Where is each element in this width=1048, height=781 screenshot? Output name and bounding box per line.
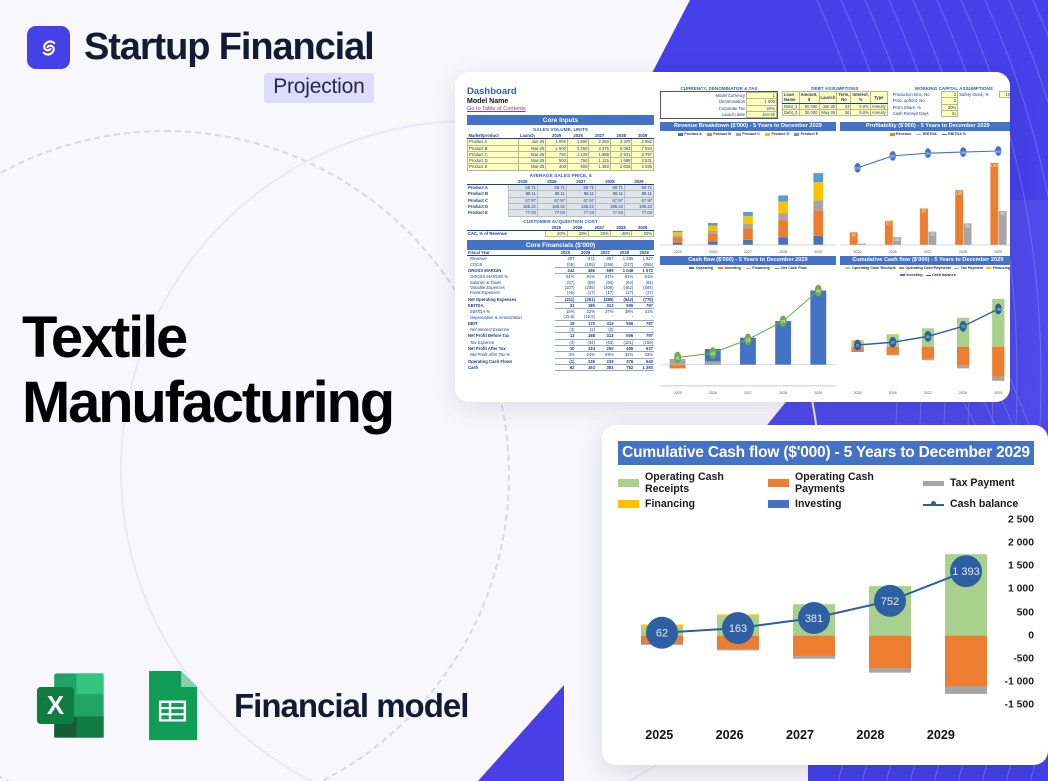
dashboard-title: Dashboard xyxy=(467,86,654,97)
cumulative-chart-title: Cumulative Cash flow ($'000) - 5 Years t… xyxy=(618,441,1034,465)
svg-text:857: 857 xyxy=(922,209,927,214)
table-row: Launch date Jan-25 xyxy=(661,111,777,117)
table-row: Product E 77.03 77.03 77.03 77.03 77.03 xyxy=(467,210,654,216)
chart-title: Cash flow ($'000) - 5 Years to December … xyxy=(660,256,836,265)
average-price-table: 2025 2026 2027 2028 2029 Product A 58.71… xyxy=(467,179,654,217)
svg-text:797: 797 xyxy=(1000,211,1005,216)
brand-subtitle-badge: Projection xyxy=(264,73,373,103)
core-financials-table: Fiscal Year 2025 2026 2027 2028 2029 Rev… xyxy=(467,250,654,371)
model-name-label: Model Name xyxy=(467,98,654,105)
chart-plot-area xyxy=(660,138,836,246)
svg-text:185: 185 xyxy=(895,237,900,242)
chart-legend: Operating Investing Financing Net Cash F… xyxy=(660,265,836,272)
legend-item-tax-payment: Tax Payment xyxy=(923,471,1034,495)
x-axis-tick: 2026 xyxy=(694,728,764,742)
svg-text:10%: 10% xyxy=(855,166,860,171)
currency-table: Model Currency 1 Denomination 1 000 Corp… xyxy=(661,92,777,118)
table-row: Cash Receipt Days 21 xyxy=(892,110,1010,116)
y-axis-tick: 2 000 xyxy=(1008,538,1034,549)
cumulative-cash-flow-chart-small[interactable]: Cumulative Cash flow ($'000) - 5 Years t… xyxy=(840,256,1010,394)
working-capital-block: WORKING CAPITAL ASSUMPTIONS Production t… xyxy=(892,86,1010,119)
chart-plot-area: 62101218375640 xyxy=(660,272,836,387)
y-axis-tick: 2 500 xyxy=(1008,515,1034,526)
x-axis-tick: 2027 xyxy=(765,728,835,742)
table-row: Cash621633817521 393 xyxy=(467,364,654,370)
chart-title: Revenue Breakdown ($'000) - 5 Years to D… xyxy=(660,122,836,131)
y-axis-tick: 500 xyxy=(1017,607,1034,618)
svg-text:37%: 37% xyxy=(925,151,930,156)
svg-text:163: 163 xyxy=(891,340,895,345)
cumulative-cash-flow-card[interactable]: Cumulative Cash flow ($'000) - 5 Years t… xyxy=(602,425,1048,765)
brand-title: Startup Financial xyxy=(84,26,374,69)
legend-swatch-grey xyxy=(923,481,944,486)
svg-text:39%: 39% xyxy=(960,150,965,155)
cumulative-chart-y-axis: 2 5002 0001 5001 0005000-500-1 000-1 500 xyxy=(980,520,1034,705)
y-axis-tick: -1 500 xyxy=(1005,700,1034,711)
svg-text:381: 381 xyxy=(926,334,930,339)
svg-text:218: 218 xyxy=(746,337,750,342)
svg-text:571: 571 xyxy=(886,221,891,226)
revenue-breakdown-chart[interactable]: Revenue Breakdown ($'000) - 5 Years to D… xyxy=(660,122,836,253)
svg-text:1 285: 1 285 xyxy=(956,191,963,196)
chart-title: Profitability ($'000) - 5 Years to Decem… xyxy=(840,122,1010,131)
google-sheets-icon xyxy=(133,666,212,745)
debt-assumptions-block: DEBT ASSUMPTIONS Loan Name Amount, $ Lau… xyxy=(782,86,888,119)
legend-swatch-orange xyxy=(768,479,789,487)
y-axis-tick: -1 000 xyxy=(1005,676,1034,687)
legend-item-financing: Financing xyxy=(618,498,768,510)
svg-text:62: 62 xyxy=(856,343,859,348)
y-axis-tick: 1 000 xyxy=(1008,584,1034,595)
svg-text:1 393: 1 393 xyxy=(952,566,980,578)
x-axis-tick: 2025 xyxy=(624,728,694,742)
table-row: CAC, % of Revenue 20% 20% 20% 20% 20% xyxy=(467,230,654,236)
svg-text:1 927: 1 927 xyxy=(991,163,998,168)
chart-x-axis-labels: 2025 2026 2027 2028 2029 xyxy=(840,390,1010,395)
profitability-chart[interactable]: Profitability ($'000) - 5 Years to Decem… xyxy=(840,122,1010,253)
svg-text:41%: 41% xyxy=(996,149,1001,154)
microsoft-excel-icon: X xyxy=(32,666,111,745)
svg-text:X: X xyxy=(47,692,65,720)
footer-label: Financial model xyxy=(234,687,468,725)
chart-legend: Operating Cash Receipts Operating Cash P… xyxy=(840,265,1010,279)
cumulative-chart-x-axis: 20252026202720282029 xyxy=(624,728,976,742)
table-row: Product E Mar-25 400 900 1 350 2 025 3 0… xyxy=(468,164,654,170)
debt-table: Loan Name Amount, $ Launch Term, No Inte… xyxy=(782,91,888,116)
cac-table: 2025 2026 2027 2028 2029 CAC, % of Reven… xyxy=(467,225,654,238)
svg-text:1 393: 1 393 xyxy=(995,307,1001,312)
svg-text:163: 163 xyxy=(729,623,747,635)
legend-item-investing: Investing xyxy=(768,498,923,510)
legend-item-operating-cash-payments: Operating Cash Payments xyxy=(768,471,923,495)
svg-text:506: 506 xyxy=(965,224,970,229)
dashboard-screenshot-card[interactable]: Dashboard Model Name Go to Table of Cont… xyxy=(455,72,1010,402)
y-axis-tick: 1 500 xyxy=(1008,561,1034,572)
svg-text:752: 752 xyxy=(961,324,965,329)
dashboard-left-column: Dashboard Model Name Go to Table of Cont… xyxy=(467,86,654,394)
x-axis-tick: 2028 xyxy=(835,728,905,742)
legend-swatch-yellow xyxy=(618,500,639,508)
cumulative-chart-svg: 621633817521 393 xyxy=(624,520,1004,705)
legend-swatch-blue xyxy=(768,500,789,508)
svg-text:62: 62 xyxy=(676,355,679,360)
legend-swatch-line-marker xyxy=(923,500,944,509)
svg-text:381: 381 xyxy=(805,613,823,625)
dashboard-right-column: CURRENCY, DENOMINATOR & TAX Model Curren… xyxy=(660,86,1010,394)
svg-text:101: 101 xyxy=(711,351,715,356)
svg-text:375: 375 xyxy=(781,319,785,324)
chart-title: Cumulative Cash flow ($'000) - 5 Years t… xyxy=(840,256,1010,265)
svg-text:752: 752 xyxy=(881,596,899,608)
sales-volume-table: Market/product Launch 2025 2026 2027 202… xyxy=(467,133,654,171)
y-axis-tick: -500 xyxy=(1013,653,1034,664)
legend-item-cash-balance: Cash balance xyxy=(923,498,1034,510)
page-title: Textile Manufacturing xyxy=(22,306,393,436)
svg-text:313: 313 xyxy=(930,232,935,237)
chart-plot-area: 621633817521 393 xyxy=(840,279,1010,387)
cumulative-chart-plot: 621633817521 393 2 5002 0001 5001 000500… xyxy=(618,520,1034,742)
table-of-contents-link[interactable]: Go to Table of Contents xyxy=(467,106,654,112)
y-axis-tick: 0 xyxy=(1028,630,1034,641)
x-axis-tick: 2029 xyxy=(906,728,976,742)
chart-x-axis-labels: 2025 2026 2027 2028 2029 xyxy=(660,249,836,254)
core-inputs-band: Core Inputs xyxy=(467,115,654,125)
table-row: Debt_2 30 000 May-26 36 5.0% Annuity xyxy=(783,109,888,115)
chart-legend: Revenue EBITDA EBITDA % xyxy=(840,131,1010,138)
chart-x-axis-labels: 2025 2026 2027 2028 2029 xyxy=(660,390,836,395)
core-financials-band: Core Financials ($'000) xyxy=(467,240,654,250)
svg-text:640: 640 xyxy=(816,288,820,293)
footer-formats: X Financial model xyxy=(32,666,468,745)
currency-assumptions-block: CURRENCY, DENOMINATOR & TAX Model Curren… xyxy=(660,86,778,119)
chart-x-axis-labels: 2025 2026 2027 2028 2029 xyxy=(840,249,1010,254)
page-title-line-1: Textile xyxy=(22,306,393,371)
svg-text:32%: 32% xyxy=(890,154,895,159)
svg-text:297: 297 xyxy=(851,233,856,238)
chart-legend: Product A Product B Product C Product D … xyxy=(660,131,836,138)
chart-plot-area: 297315711858573131 2855061 92779710%32%3… xyxy=(840,138,1010,246)
cumulative-chart-legend: Operating Cash Receipts Operating Cash P… xyxy=(618,471,1034,510)
page-title-line-2: Manufacturing xyxy=(22,371,393,436)
working-capital-table: Production time, No 2 Safety Stock, % 10… xyxy=(892,91,1010,117)
svg-text:62: 62 xyxy=(656,628,668,640)
legend-item-operating-cash-receipts: Operating Cash Receipts xyxy=(618,471,768,495)
infinity-e-logo-icon xyxy=(27,26,70,69)
brand-header: Startup Financial Projection xyxy=(27,26,374,103)
legend-swatch-green xyxy=(618,479,639,487)
cash-flow-chart[interactable]: Cash flow ($'000) - 5 Years to December … xyxy=(660,256,836,394)
